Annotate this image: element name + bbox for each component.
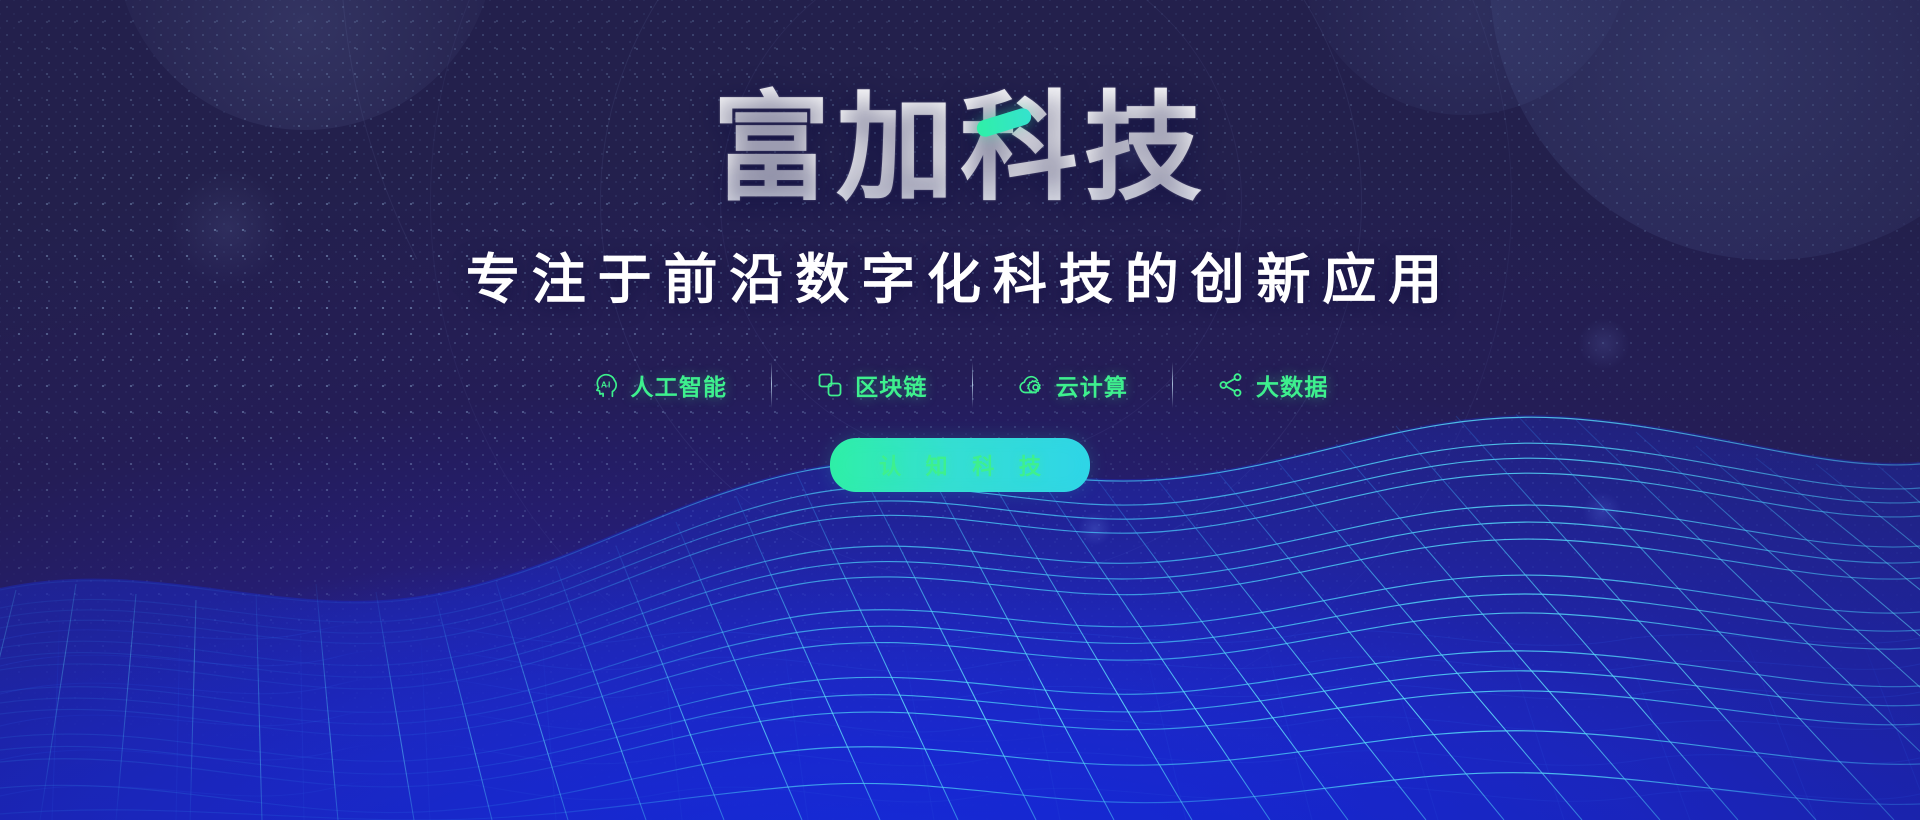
logo-char-3-wrap: 科 <box>960 86 1084 213</box>
logo-char-4: 技 <box>1084 86 1208 213</box>
logo-char-2: 加 <box>836 86 960 213</box>
hero-tagline: 专注于前沿数字化科技的创新应用 <box>466 235 1454 314</box>
feature-tag-ai[interactable]: AI 人工智能 <box>548 368 772 402</box>
share-nodes-icon <box>1217 371 1245 399</box>
hero-banner: 富 加 科 技 专注于前沿数字化科技的创新应用 AI 人工智能 <box>0 0 1920 820</box>
ai-head-icon: AI <box>592 371 620 399</box>
feature-tag-label: 人工智能 <box>631 368 728 402</box>
feature-tag-list: AI 人工智能 区块链 云计算 <box>548 362 1373 408</box>
cognitive-tech-badge[interactable]: 认 知 科 技 <box>830 438 1090 492</box>
cloud-gear-icon <box>1017 371 1045 399</box>
feature-tag-label: 区块链 <box>855 368 927 402</box>
logo-char-1: 富 <box>712 86 836 213</box>
logo-char-3: 科 <box>960 83 1084 215</box>
feature-tag-blockchain[interactable]: 区块链 <box>772 368 971 402</box>
feature-tag-bigdata[interactable]: 大数据 <box>1173 368 1372 402</box>
brand-logo: 富 加 科 技 <box>712 86 1208 213</box>
svg-text:AI: AI <box>600 380 611 390</box>
blockchain-blocks-icon <box>816 371 844 399</box>
hero-content: 富 加 科 技 专注于前沿数字化科技的创新应用 AI 人工智能 <box>0 0 1920 820</box>
feature-tag-cloud[interactable]: 云计算 <box>973 368 1172 402</box>
feature-tag-label: 云计算 <box>1056 368 1128 402</box>
feature-tag-label: 大数据 <box>1256 368 1328 402</box>
